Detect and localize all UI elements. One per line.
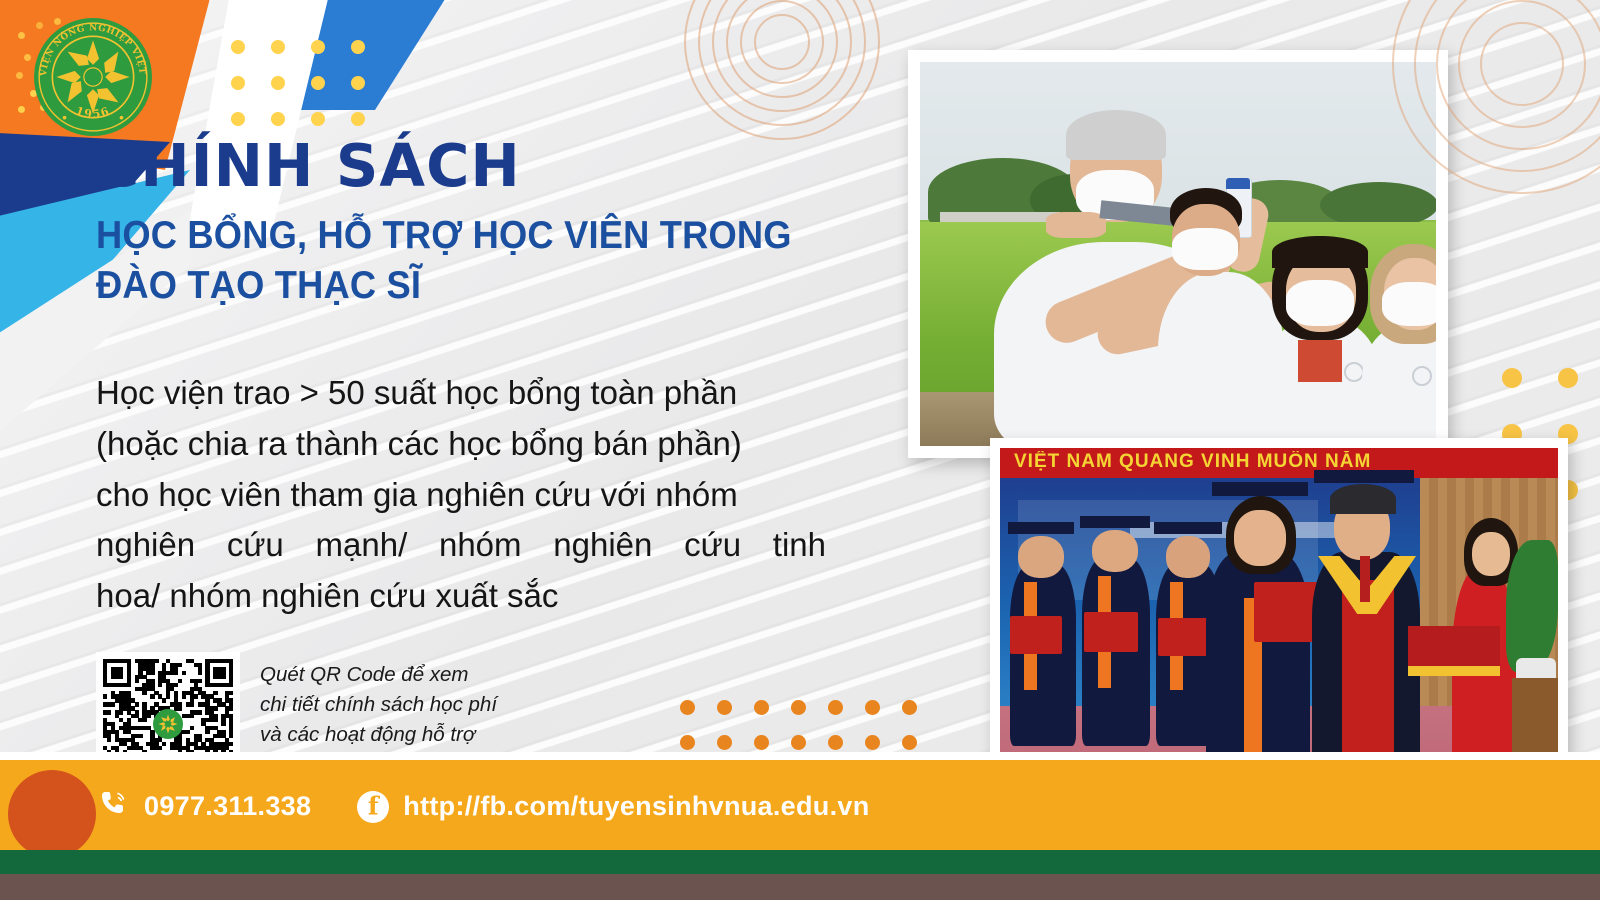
qr-note-line: Quét QR Code để xem [260, 660, 497, 690]
decor-dot [865, 700, 880, 715]
page-subtitle-line-2: ĐÀO TẠO THẠC SĨ [96, 261, 821, 311]
sparkle-dot [16, 72, 23, 79]
footer-facebook-label: http://fb.com/tuyensinhvnua.edu.vn [403, 791, 869, 822]
footer-green-stripe [0, 850, 1600, 874]
decor-dot [271, 76, 285, 90]
sparkle-dot [18, 106, 25, 113]
qr-note-line: chi tiết chính sách học phí [260, 690, 497, 720]
body-line: hoa/ nhóm nghiên cứu xuất sắc [96, 571, 826, 622]
decor-dot [271, 40, 285, 54]
footer-phone-item[interactable]: 0977.311.338 [96, 787, 311, 826]
decor-dot [351, 112, 365, 126]
decor-dot [791, 700, 806, 715]
decor-dot [311, 112, 325, 126]
decor-dot [311, 76, 325, 90]
facebook-icon [357, 791, 389, 823]
decor-dot [754, 700, 769, 715]
qr-center-logo-icon [153, 709, 183, 739]
sparkle-dot [18, 32, 25, 39]
headline-block: CHÍNH SÁCH HỌC BỔNG, HỖ TRỢ HỌC VIÊN TRO… [96, 136, 876, 311]
decor-dot [717, 735, 732, 750]
decor-dot [1558, 368, 1578, 388]
photo-1-content [920, 62, 1436, 446]
decor-dot [231, 40, 245, 54]
decor-dot [754, 735, 769, 750]
qr-note-line: và các hoạt động hỗ trợ [260, 720, 497, 750]
footer-divider [0, 752, 1600, 760]
decor-dot [231, 112, 245, 126]
decor-dot [231, 76, 245, 90]
footer-phone-label: 0977.311.338 [144, 791, 311, 822]
footer-brown-stripe [0, 874, 1600, 900]
decor-dot [902, 735, 917, 750]
decor-dot [680, 700, 695, 715]
footer-contact-list: 0977.311.338 http://fb.com/tuyensinhvnua… [96, 787, 870, 826]
footer-accent-circle [8, 770, 96, 858]
sparkle-dot [24, 54, 31, 61]
decor-dot [680, 735, 695, 750]
decor-dot [828, 735, 843, 750]
phone-ringing-icon [96, 787, 130, 826]
body-line: (hoặc chia ra thành các học bổng bán phầ… [96, 419, 826, 470]
body-line: cho học viên tham gia nghiên cứu với nhó… [96, 470, 826, 521]
decor-dot [1502, 368, 1522, 388]
photo-researchers-rice-field [908, 50, 1448, 458]
decor-dot [828, 700, 843, 715]
decor-dot [717, 700, 732, 715]
vnua-seal-logo: HỌC VIỆN NÔNG NGHIỆP VIỆT NAM 1956 [32, 16, 154, 138]
decor-dot [351, 40, 365, 54]
decor-dot [791, 735, 806, 750]
body-line: nghiên cứu mạnh/ nhóm nghiên cứu tinh [96, 520, 826, 571]
decor-dot [311, 40, 325, 54]
decor-dot [351, 76, 365, 90]
decor-dot [865, 735, 880, 750]
decor-dot [902, 700, 917, 715]
body-line: Học viện trao > 50 suất học bổng toàn ph… [96, 368, 826, 419]
slide-canvas: HỌC VIỆN NÔNG NGHIỆP VIỆT NAM 1956 CHÍNH… [0, 0, 1600, 900]
decor-dot [271, 112, 285, 126]
body-paragraph: Học viện trao > 50 suất học bổng toàn ph… [96, 368, 826, 622]
yellow-dot-grid [231, 40, 365, 126]
page-title: CHÍNH SÁCH [96, 136, 876, 195]
footer-facebook-item[interactable]: http://fb.com/tuyensinhvnua.edu.vn [357, 791, 869, 823]
page-subtitle-line-1: HỌC BỔNG, HỖ TRỢ HỌC VIÊN TRONG [96, 211, 821, 261]
